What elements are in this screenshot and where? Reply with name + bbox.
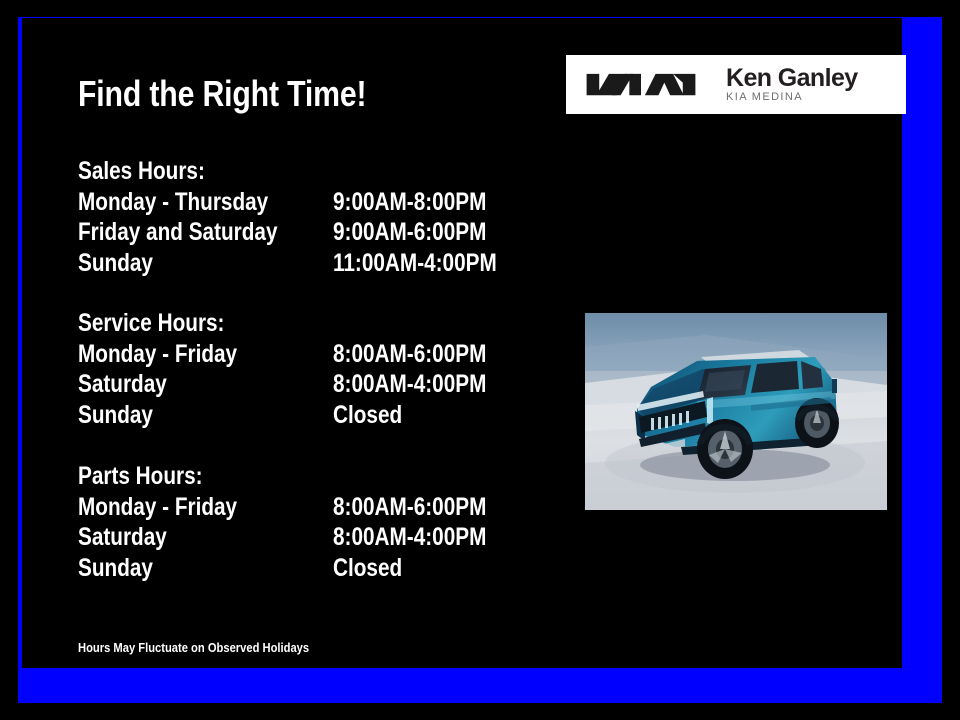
time-label: 11:00AM-4:00PM (333, 248, 497, 279)
hours-row: Saturday 8:00AM-4:00PM (78, 369, 254, 400)
dealer-name: Ken Ganley (726, 65, 858, 91)
time-label: 8:00AM-4:00PM (333, 522, 486, 553)
time-label: 8:00AM-6:00PM (333, 339, 486, 370)
time-label: 9:00AM-6:00PM (333, 217, 486, 248)
day-label: Saturday (78, 522, 167, 553)
dealer-subtitle: KIA MEDINA (726, 91, 858, 104)
hours-row: Sunday Closed (78, 553, 228, 584)
kia-ev9-suv-photo (585, 313, 887, 510)
time-label: Closed (333, 553, 402, 584)
day-label: Saturday (78, 369, 167, 400)
day-label: Monday - Friday (78, 339, 237, 370)
page-title: Find the Right Time! (78, 76, 366, 112)
time-label: 8:00AM-4:00PM (333, 369, 486, 400)
hours-row: Monday - Thursday 9:00AM-8:00PM (78, 187, 231, 218)
kia-logo-mark (582, 68, 700, 102)
parts-hours-block: Parts Hours: Monday - Friday 8:00AM-6:00… (78, 461, 228, 583)
hours-row: Saturday 8:00AM-4:00PM (78, 522, 228, 553)
hours-row: Friday and Saturday 9:00AM-6:00PM (78, 217, 231, 248)
time-label: 8:00AM-6:00PM (333, 492, 486, 523)
sales-hours-block: Sales Hours: Monday - Thursday 9:00AM-8:… (78, 156, 231, 278)
sales-hours-heading: Sales Hours: (78, 156, 205, 187)
dealer-logo-text: Ken Ganley KIA MEDINA (726, 65, 858, 104)
hours-row: Monday - Friday 8:00AM-6:00PM (78, 339, 254, 370)
service-hours-heading: Service Hours: (78, 308, 224, 339)
parts-hours-heading: Parts Hours: (78, 461, 203, 492)
dealer-logo: Ken Ganley KIA MEDINA (566, 55, 906, 114)
hours-row: Monday - Friday 8:00AM-6:00PM (78, 492, 228, 523)
day-label: Friday and Saturday (78, 217, 277, 248)
day-label: Monday - Friday (78, 492, 237, 523)
holiday-disclaimer: Hours May Fluctuate on Observed Holidays (78, 640, 309, 655)
dealership-hours-slide: Find the Right Time! Sales Hours: Monday… (0, 0, 960, 720)
service-hours-block: Service Hours: Monday - Friday 8:00AM-6:… (78, 308, 254, 430)
time-label: Closed (333, 400, 402, 431)
day-label: Sunday (78, 400, 153, 431)
hours-row: Sunday Closed (78, 400, 254, 431)
time-label: 9:00AM-8:00PM (333, 187, 486, 218)
day-label: Sunday (78, 553, 153, 584)
hours-row: Sunday 11:00AM-4:00PM (78, 248, 231, 279)
day-label: Sunday (78, 248, 153, 279)
day-label: Monday - Thursday (78, 187, 268, 218)
